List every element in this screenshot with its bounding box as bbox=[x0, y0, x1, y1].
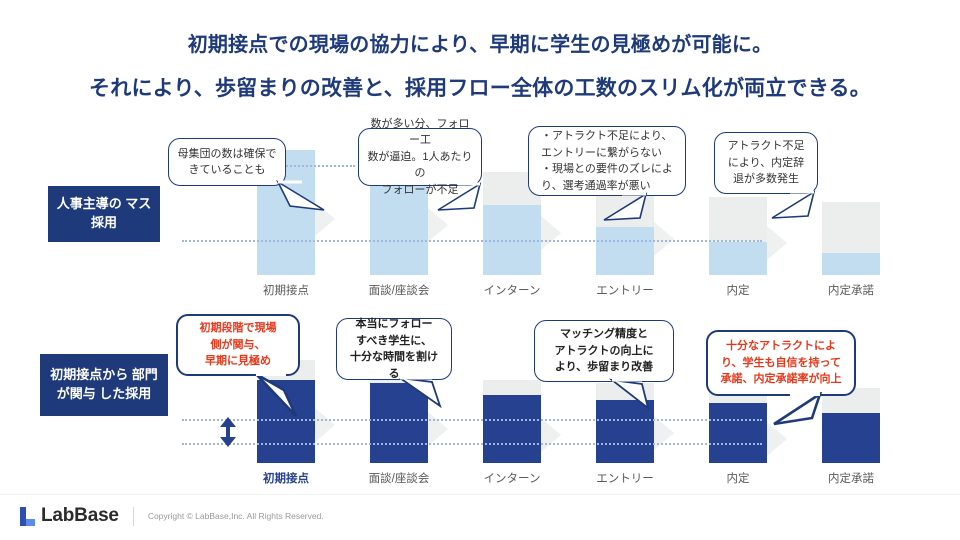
callout-tail bbox=[766, 190, 818, 222]
funnel-connector-icon bbox=[541, 418, 561, 452]
callout-attract-shortage: ・アトラクト不足により、 エントリーに繋がらない ・現場との要件のズレによ り、… bbox=[528, 126, 686, 196]
row-label-field-involved-hiring: 初期接点から 部門が関与 した採用 bbox=[40, 354, 168, 416]
headline-line-1: 初期接点での現場の協力により、早期に学生の見極めが可能に。 bbox=[0, 28, 960, 57]
callout-tail bbox=[432, 182, 484, 214]
double-arrow-icon bbox=[219, 416, 237, 448]
bar-fill bbox=[596, 227, 654, 275]
bar-caption: 内定 bbox=[698, 470, 778, 486]
callout-tail bbox=[768, 392, 824, 428]
bar-caption: 初期接点 bbox=[246, 470, 326, 486]
bar-caption: エントリー bbox=[585, 282, 665, 298]
bar-caption: 面談/座談会 bbox=[359, 282, 439, 298]
bar-fill bbox=[709, 242, 767, 275]
guide-line-bottom-lower bbox=[182, 443, 762, 445]
bar-caption: 内定承諾 bbox=[811, 470, 891, 486]
footer-logo-group: LabBase Copyright © LabBase,Inc. All Rig… bbox=[20, 505, 324, 527]
bar-caption: 内定 bbox=[698, 282, 778, 298]
labbase-logo-icon bbox=[20, 507, 35, 526]
bar-fill bbox=[822, 253, 880, 275]
bar-fill bbox=[370, 185, 428, 275]
callout-matching-accuracy: マッチング精度と アトラクトの向上に より、歩留まり改善 bbox=[534, 320, 674, 382]
callout-tail bbox=[276, 180, 328, 214]
callout-acceptance-rate: 十分なアトラクトによ り、学生も自信を持って 承諾、内定承諾率が向上 bbox=[706, 330, 856, 396]
copyright-text: Copyright © LabBase,Inc. All Rights Rese… bbox=[148, 511, 324, 521]
callout-pool-secured: 母集団の数は確保で きていることも bbox=[168, 138, 286, 186]
footer-divider bbox=[0, 494, 960, 495]
callout-offer-decline: アトラクト不足 により、内定辞 退が多数発生 bbox=[714, 132, 818, 194]
bar-caption: 内定承諾 bbox=[811, 282, 891, 298]
footer-separator bbox=[133, 507, 134, 526]
funnel-connector-icon bbox=[428, 412, 448, 446]
callout-early-involvement: 初期段階で現場 側が関与、 早期に見極め bbox=[176, 314, 300, 376]
row-label-hr-led-mass-hiring: 人事主導の マス採用 bbox=[48, 186, 160, 242]
bar-caption: インターン bbox=[472, 282, 552, 298]
callout-tail bbox=[598, 192, 650, 224]
bar-caption: 面談/座談会 bbox=[359, 470, 439, 486]
funnel-connector-icon bbox=[541, 216, 561, 250]
bar-caption: インターン bbox=[472, 470, 552, 486]
callout-tail bbox=[608, 378, 658, 412]
callout-tail bbox=[396, 376, 446, 410]
callout-follow-shortage: 数が多い分、フォロー工 数が逼迫。1人あたりの フォローが不足 bbox=[358, 128, 482, 186]
callout-tail bbox=[252, 372, 308, 420]
headline-line-2: それにより、歩留まりの改善と、採用フロー全体の工数のスリム化が両立できる。 bbox=[0, 72, 960, 102]
callout-enough-time: 本当にフォロー すべき学生に、 十分な時間を割ける bbox=[336, 318, 452, 380]
bar-fill bbox=[822, 413, 880, 463]
bar-caption: エントリー bbox=[585, 470, 665, 486]
funnel-connector-icon bbox=[654, 222, 674, 256]
bar-fill bbox=[709, 403, 767, 463]
funnel-connector-icon bbox=[767, 226, 787, 260]
bar-caption: 初期接点 bbox=[246, 282, 326, 298]
logo-wordmark: LabBase bbox=[41, 505, 119, 527]
funnel-connector-icon bbox=[315, 408, 335, 442]
slide-canvas: 初期接点での現場の協力により、早期に学生の見極めが可能に。 それにより、歩留まり… bbox=[0, 0, 960, 540]
bar-fill bbox=[483, 395, 541, 463]
